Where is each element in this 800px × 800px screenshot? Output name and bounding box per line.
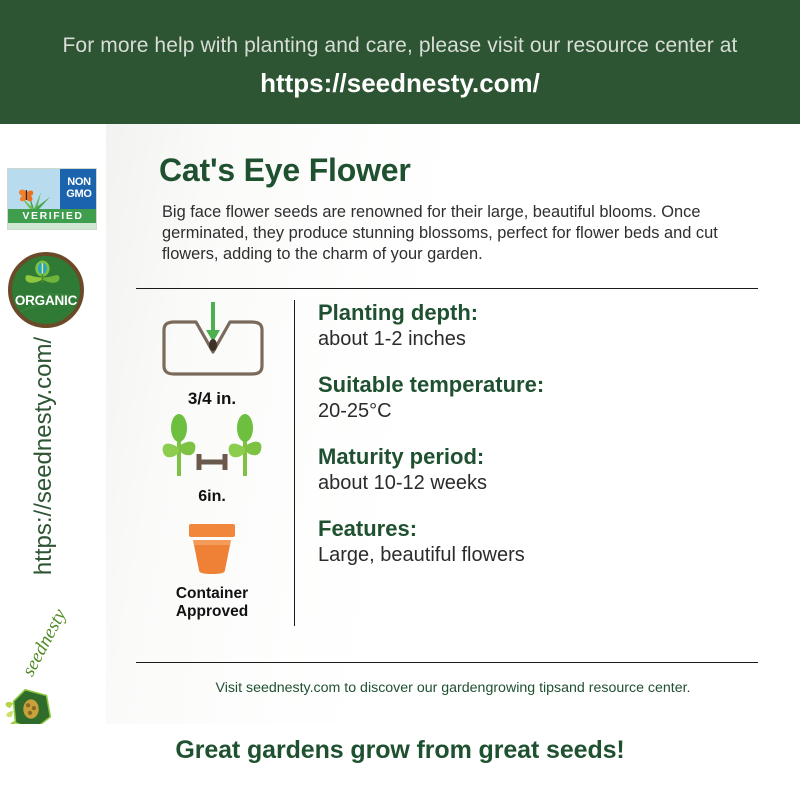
icon-column: 3/4 in.	[136, 300, 288, 630]
spec-column: Planting depth: about 1-2 inches Suitabl…	[318, 300, 758, 588]
spec-label: Features:	[318, 516, 758, 542]
page-title: Cat's Eye Flower	[159, 152, 411, 189]
container-approved-caption-line1: Container	[136, 585, 288, 603]
header-banner: For more help with planting and care, pl…	[0, 0, 800, 124]
banner-help-text: For more help with planting and care, pl…	[63, 33, 738, 58]
butterfly-grass-icon	[8, 187, 60, 209]
non-gmo-verified-badge: NON GMO VERIFIED	[7, 168, 97, 230]
tagline-text: Great gardens grow from great seeds!	[175, 736, 624, 765]
organic-badge: ORGANIC	[8, 252, 84, 328]
organic-label: ORGANIC	[12, 293, 80, 308]
banner-url[interactable]: https://seednesty.com/	[260, 68, 540, 99]
spec-value: Large, beautiful flowers	[318, 543, 758, 568]
non-gmo-text: NON GMO	[60, 171, 97, 209]
spec-label: Maturity period:	[318, 444, 758, 470]
left-rail: NON GMO VERIFIED ORGANIC https://seednes…	[0, 124, 106, 724]
divider-top	[136, 288, 758, 289]
divider-bottom	[136, 662, 758, 663]
planting-depth-block: 3/4 in.	[136, 300, 288, 409]
product-description: Big face flower seeds are renowned for t…	[162, 202, 768, 265]
spec-value: 20-25°C	[318, 399, 758, 424]
planting-depth-furrow-icon	[156, 300, 268, 382]
plant-spacing-caption: 6in.	[136, 487, 288, 507]
plant-spacing-icon	[153, 412, 271, 480]
verified-bar: VERIFIED	[8, 209, 97, 223]
card-footnote: Visit seednesty.com to discover our gard…	[106, 680, 800, 696]
leaf-sprout-icon	[12, 256, 80, 324]
plant-spacing-block: 6in.	[136, 412, 288, 507]
brand-name: seednesty	[18, 599, 77, 681]
badge-footer-strip	[8, 223, 97, 230]
spec-features: Features: Large, beautiful flowers	[318, 516, 758, 568]
spec-value: about 1-2 inches	[318, 327, 758, 352]
info-card: Cat's Eye Flower Big face flower seeds a…	[106, 124, 800, 724]
spec-value: about 10-12 weeks	[318, 471, 758, 496]
seed-packet-label: For more help with planting and care, pl…	[0, 0, 800, 800]
spec-label: Planting depth:	[318, 300, 758, 326]
spec-planting-depth: Planting depth: about 1-2 inches	[318, 300, 758, 352]
spec-maturity-period: Maturity period: about 10-12 weeks	[318, 444, 758, 496]
container-pot-icon	[175, 520, 249, 576]
container-approved-caption-line2: Approved	[136, 603, 288, 621]
planting-depth-caption: 3/4 in.	[136, 389, 288, 409]
rail-vertical-url[interactable]: https://seednesty.com/	[26, 324, 62, 588]
spec-suitable-temperature: Suitable temperature: 20-25°C	[318, 372, 758, 424]
divider-vertical	[294, 300, 295, 626]
container-approved-block: Container Approved	[136, 520, 288, 621]
spec-label: Suitable temperature:	[318, 372, 758, 398]
tagline-bar: Great gardens grow from great seeds!	[0, 724, 800, 800]
